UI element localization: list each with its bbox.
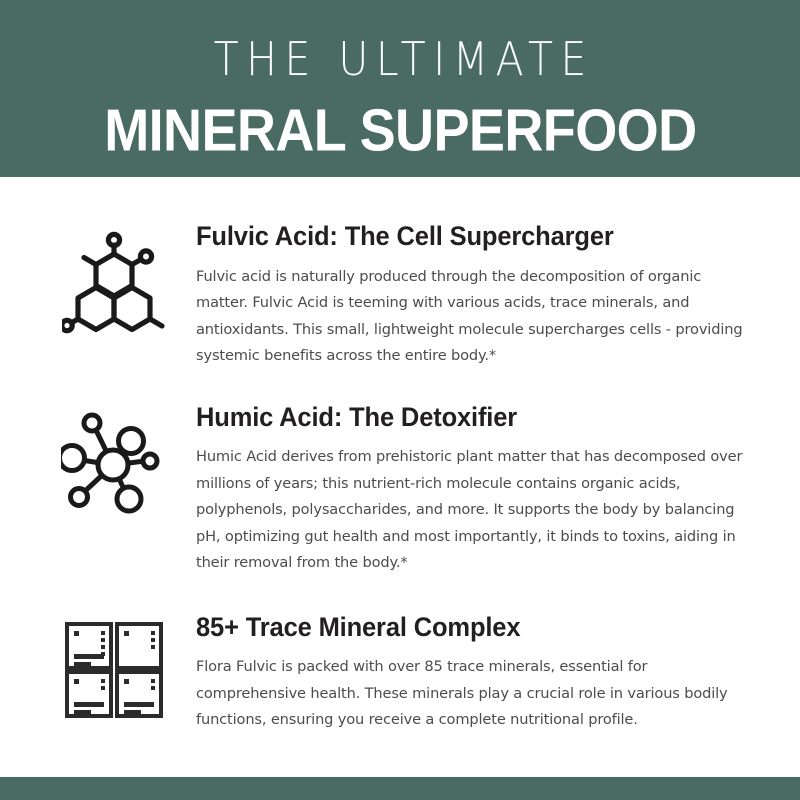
infographic-page: THE ULTIMATE MINERAL SUPERFOOD bbox=[0, 0, 800, 800]
section-trace-minerals: 85+ Trace Mineral Complex Flora Fulvic i… bbox=[0, 577, 800, 734]
section-paragraph: Humic Acid derives from prehistoric plan… bbox=[196, 444, 748, 577]
section-fulvic-acid: Fulvic Acid: The Cell Supercharger Fulvi… bbox=[0, 177, 800, 370]
fulvic-molecule-icon bbox=[58, 222, 170, 334]
header-title: MINERAL SUPERFOOD bbox=[104, 101, 696, 160]
humic-node-network-icon bbox=[58, 403, 170, 515]
section-heading: Humic Acid: The Detoxifier bbox=[196, 403, 752, 433]
section-paragraph: Flora Fulvic is packed with over 85 trac… bbox=[196, 654, 748, 734]
section-paragraph: Fulvic acid is naturally produced throug… bbox=[196, 264, 748, 370]
header-kicker: THE ULTIMATE bbox=[206, 36, 594, 84]
sections-list: Fulvic Acid: The Cell Supercharger Fulvi… bbox=[0, 177, 800, 800]
header-banner: THE ULTIMATE MINERAL SUPERFOOD bbox=[0, 0, 800, 177]
mineral-tiles-grid-icon bbox=[58, 613, 170, 725]
section-heading: 85+ Trace Mineral Complex bbox=[196, 613, 752, 643]
section-body: 85+ Trace Mineral Complex Flora Fulvic i… bbox=[170, 613, 752, 734]
section-body: Fulvic Acid: The Cell Supercharger Fulvi… bbox=[170, 222, 752, 370]
section-body: Humic Acid: The Detoxifier Humic Acid de… bbox=[170, 403, 752, 577]
section-humic-acid: Humic Acid: The Detoxifier Humic Acid de… bbox=[0, 370, 800, 577]
section-heading: Fulvic Acid: The Cell Supercharger bbox=[196, 222, 752, 252]
footer-banner bbox=[0, 777, 800, 800]
